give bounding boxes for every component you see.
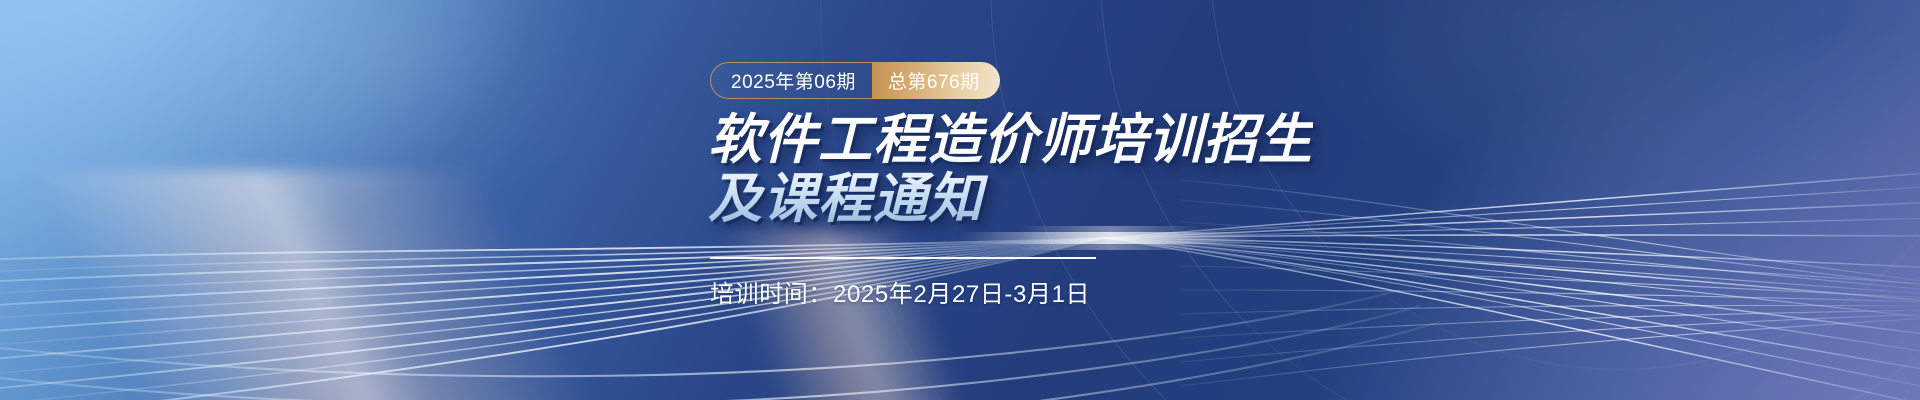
gold-sheen-left <box>0 170 700 400</box>
title-divider <box>710 257 1096 259</box>
page-title: 软件工程造价师培训招生 及课程通知 <box>708 111 1313 229</box>
glow-blob-left <box>90 0 710 280</box>
issue-number-label: 2025年第06期 <box>710 62 872 99</box>
banner-content: 2025年第06期 总第676期 软件工程造价师培训招生 及课程通知 培训时间：… <box>710 0 1610 400</box>
total-issue-number-label: 总第676期 <box>872 62 1000 99</box>
issue-badge: 2025年第06期 总第676期 <box>710 62 1000 99</box>
training-time-subtitle: 培训时间：2025年2月27日-3月1日 <box>710 274 1090 309</box>
title-line-2: 及课程通知 <box>708 170 1313 229</box>
title-line-1: 软件工程造价师培训招生 <box>708 111 1313 170</box>
promo-banner: 2025年第06期 总第676期 软件工程造价师培训招生 及课程通知 培训时间：… <box>0 0 1920 400</box>
